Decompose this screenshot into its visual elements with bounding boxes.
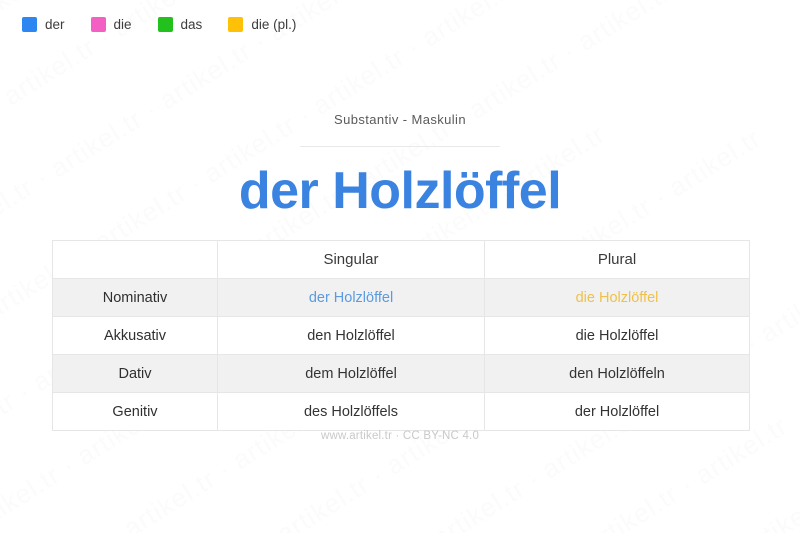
legend-item-label: die (pl.) [251, 18, 296, 32]
column-header-case [53, 241, 218, 279]
color-swatch-icon [91, 17, 106, 32]
table-header-row: Singular Plural [53, 241, 750, 279]
cell-singular: der Holzlöffel [218, 279, 485, 317]
part-of-speech-line: Substantiv - Maskulin [0, 112, 800, 128]
column-header-singular: Singular [218, 241, 485, 279]
table-row: Akkusativden Holzlöffeldie Holzlöffel [53, 317, 750, 355]
color-swatch-icon [158, 17, 173, 32]
legend-item-die: die [91, 17, 132, 32]
page-root: derdiedasdie (pl.) Substantiv - Maskulin… [0, 0, 800, 533]
legend-item-diepl: die (pl.) [228, 17, 296, 32]
cell-singular: des Holzlöffels [218, 393, 485, 431]
cell-singular: dem Holzlöffel [218, 355, 485, 393]
cell-singular: den Holzlöffel [218, 317, 485, 355]
page-title: der Holzlöffel [0, 163, 800, 220]
cell-case: Akkusativ [53, 317, 218, 355]
footer-credit: www.artikel.tr · CC BY-NC 4.0 [0, 430, 800, 442]
table-head: Singular Plural [53, 241, 750, 279]
declension-table: Singular Plural Nominativder Holzlöffeld… [52, 240, 750, 431]
legend-item-label: der [45, 18, 65, 32]
table-body: Nominativder Holzlöffeldie HolzlöffelAkk… [53, 279, 750, 431]
article-color-legend: derdiedasdie (pl.) [22, 17, 296, 32]
cell-case: Dativ [53, 355, 218, 393]
legend-item-der: der [22, 17, 65, 32]
table-row: Dativdem Holzlöffelden Holzlöffeln [53, 355, 750, 393]
legend-item-das: das [158, 17, 203, 32]
cell-plural: der Holzlöffel [485, 393, 750, 431]
legend-item-label: das [181, 18, 203, 32]
cell-plural: die Holzlöffel [485, 317, 750, 355]
color-swatch-icon [22, 17, 37, 32]
color-swatch-icon [228, 17, 243, 32]
legend-item-label: die [114, 18, 132, 32]
word-header: Substantiv - Maskulin der Holzlöffel [0, 112, 800, 220]
header-divider [300, 146, 500, 147]
cell-plural: die Holzlöffel [485, 279, 750, 317]
cell-plural: den Holzlöffeln [485, 355, 750, 393]
table-row: Nominativder Holzlöffeldie Holzlöffel [53, 279, 750, 317]
column-header-plural: Plural [485, 241, 750, 279]
cell-case: Nominativ [53, 279, 218, 317]
table-row: Genitivdes Holzlöffelsder Holzlöffel [53, 393, 750, 431]
cell-case: Genitiv [53, 393, 218, 431]
